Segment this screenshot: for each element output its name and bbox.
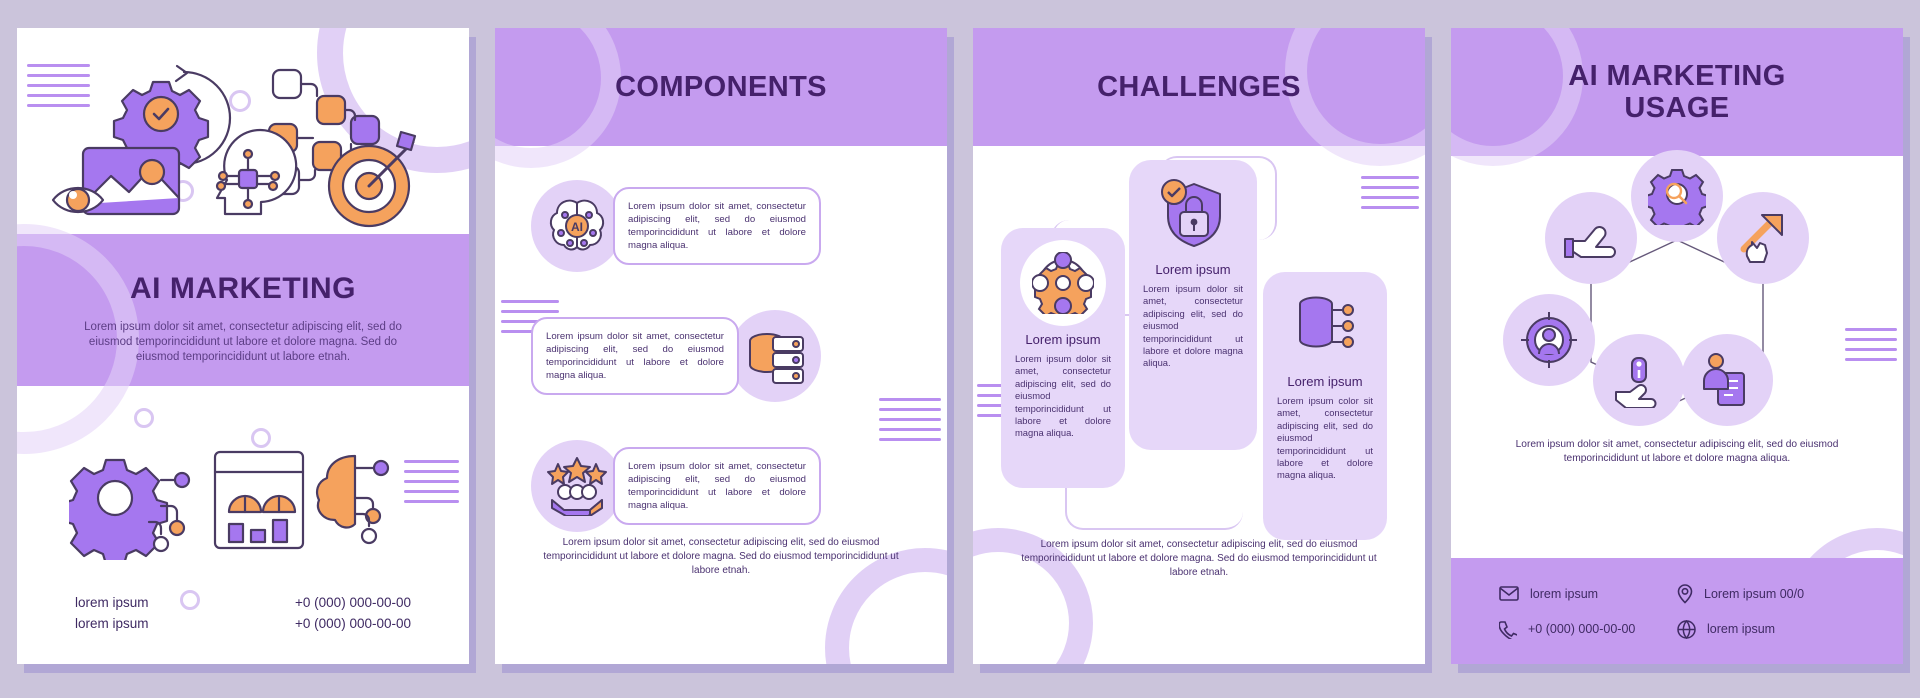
cover-icons-row2 (39, 128, 449, 238)
page-title: CHALLENGES (1097, 71, 1301, 103)
brochure-template-stage: AI MARKETING Lorem ipsum dolor sit amet,… (0, 0, 1920, 698)
stars-rating-hand-icon (531, 440, 623, 532)
person-document-icon (1681, 334, 1773, 426)
components-header-band: COMPONENTS (495, 28, 947, 146)
mail-icon (1499, 586, 1519, 601)
challenges-footer-text: Lorem ipsum dolor sit amet, consectetur … (1015, 538, 1383, 580)
database-nodes-icon (1283, 284, 1367, 368)
shield-lock-check-icon (1151, 172, 1235, 256)
component-text-3: Lorem ipsum dolor sit amet, consectetur … (613, 447, 821, 525)
ai-brain-icon: AI (531, 180, 623, 272)
cover-icons-bottom (69, 440, 409, 560)
components-footer-text: Lorem ipsum dolor sit amet, consectetur … (537, 536, 905, 578)
page-title: AI MARKETING (17, 272, 469, 306)
challenge-card-3-title: Lorem ipsum (1277, 374, 1373, 389)
cover-contact-left: lorem ipsum lorem ipsum (75, 592, 149, 634)
database-server-icon (729, 310, 821, 402)
decorative-rules (404, 460, 459, 503)
decorative-rules (1361, 176, 1419, 209)
component-text-1: Lorem ipsum dolor sit amet, consectetur … (613, 187, 821, 265)
decorative-ring-light (1285, 28, 1425, 166)
footer-item-address[interactable]: Lorem ipsum 00/0 (1677, 584, 1855, 604)
component-row-3: Lorem ipsum dolor sit amet, consectetur … (531, 440, 911, 532)
panel-challenges: CHALLENGES (973, 28, 1425, 664)
footer-phone-label: +0 (000) 000-00-00 (1528, 622, 1635, 636)
footer-item-website[interactable]: lorem ipsum (1677, 620, 1855, 639)
challenge-card-1-title: Lorem ipsum (1015, 332, 1111, 347)
growth-arrow-cursor-icon (1717, 192, 1809, 284)
footer-item-phone[interactable]: +0 (000) 000-00-00 (1499, 620, 1677, 639)
gear-cycle-nodes-icon (1020, 240, 1106, 326)
component-row-1: AI Lorem ipsum dolor sit amet, consectet… (531, 180, 911, 272)
challenge-card-1-text: Lorem ipsum dolor sit amet, consectetur … (1015, 353, 1111, 440)
challenge-card-1: Lorem ipsum Lorem ipsum dolor sit amet, … (1001, 228, 1125, 488)
page-title: COMPONENTS (615, 71, 827, 103)
svg-text:AI: AI (571, 220, 583, 234)
hand-offer-icon (1545, 192, 1637, 284)
decorative-circle (134, 408, 154, 428)
contact-text-2: lorem ipsum (75, 613, 149, 634)
component-row-2: Lorem ipsum dolor sit amet, consectetur … (531, 310, 911, 402)
decorative-ring-light (495, 28, 621, 168)
component-text-2: Lorem ipsum dolor sit amet, consectetur … (531, 317, 739, 395)
cover-contact-right: +0 (000) 000-00-00 +0 (000) 000-00-00 (295, 592, 411, 634)
footer-email-label: lorem ipsum (1530, 587, 1598, 601)
challenge-card-2-text: Lorem ipsum dolor sit amet, consectetur … (1143, 283, 1243, 370)
challenge-card-3-text: Lorem ipsum color sit amet, consectetur … (1277, 395, 1373, 482)
contact-text-1: lorem ipsum (75, 592, 149, 613)
location-pin-icon (1677, 584, 1693, 604)
cover-paragraph: Lorem ipsum dolor sit amet, consectetur … (81, 320, 405, 365)
contact-phone-1: +0 (000) 000-00-00 (295, 592, 411, 613)
challenge-card-2: Lorem ipsum Lorem ipsum dolor sit amet, … (1129, 160, 1257, 450)
contact-phone-2: +0 (000) 000-00-00 (295, 613, 411, 634)
usage-paragraph: Lorem ipsum dolor sit amet, consectetur … (1497, 438, 1857, 466)
target-user-icon (1503, 294, 1595, 386)
page-title: AI MARKETING USAGE (1532, 60, 1822, 124)
panel-cover: AI MARKETING Lorem ipsum dolor sit amet,… (17, 28, 469, 664)
globe-icon (1677, 620, 1696, 639)
usage-footer: lorem ipsum Lorem ipsum 00/0 +0 (000) 00… (1451, 558, 1903, 664)
decorative-rules (879, 398, 941, 441)
usage-node-diagram (1451, 148, 1903, 448)
challenges-header-band: CHALLENGES (973, 28, 1425, 146)
phone-icon (1499, 620, 1517, 639)
info-hand-icon (1593, 334, 1685, 426)
panel-usage: AI MARKETING USAGE (1451, 28, 1903, 664)
challenge-card-2-title: Lorem ipsum (1143, 262, 1243, 277)
challenge-card-3: Lorem ipsum Lorem ipsum color sit amet, … (1263, 272, 1387, 540)
footer-item-email[interactable]: lorem ipsum (1499, 584, 1677, 604)
cover-contacts: lorem ipsum lorem ipsum +0 (000) 000-00-… (17, 592, 469, 634)
usage-header-band: AI MARKETING USAGE (1451, 28, 1903, 156)
footer-website-label: lorem ipsum (1707, 622, 1775, 636)
panel-components: COMPONENTS AI (495, 28, 947, 664)
gear-search-icon (1631, 150, 1723, 242)
footer-address-label: Lorem ipsum 00/0 (1704, 587, 1804, 601)
